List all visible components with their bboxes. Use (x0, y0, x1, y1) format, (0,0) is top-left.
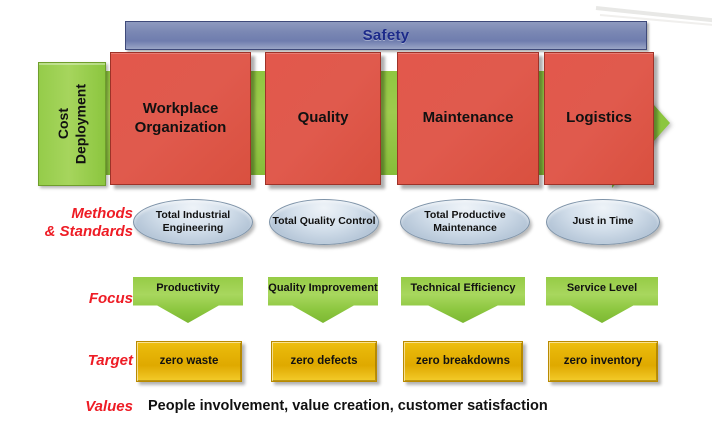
focus-arrow-productivity[interactable]: Productivity (133, 277, 243, 323)
row-label-methods-standards: Methods & Standards (3, 205, 133, 241)
method-ellipse-total-productive-maintenance[interactable]: Total Productive Maintenance (400, 199, 530, 245)
cost-deployment-pillar[interactable]: Cost Deployment (38, 62, 106, 186)
focus-arrow-quality-improvement[interactable]: Quality Improvement (268, 277, 378, 323)
pillar-quality[interactable]: Quality (265, 52, 381, 185)
target-box-zero-defects[interactable]: zero defects (271, 341, 377, 382)
row-label-target: Target (3, 352, 133, 370)
method-ellipse-total-industrial-engineering[interactable]: Total Industrial Engineering (133, 199, 253, 245)
diagram-canvas: Safety Cost Deployment Workplace Organiz… (0, 0, 712, 427)
focus-label: Quality Improvement (268, 277, 377, 295)
method-label: Just in Time (572, 215, 633, 228)
row-label-focus: Focus (3, 290, 133, 308)
focus-label: Productivity (156, 277, 220, 295)
safety-label: Safety (363, 27, 410, 44)
method-label: Total Quality Control (272, 215, 375, 228)
target-box-zero-inventory[interactable]: zero inventory (548, 341, 658, 382)
method-label: Total Productive Maintenance (401, 209, 529, 235)
pillar-maintenance[interactable]: Maintenance (397, 52, 539, 185)
target-label: zero inventory (564, 354, 643, 368)
focus-arrow-service-level[interactable]: Service Level (546, 277, 658, 323)
pillar-label: Logistics (566, 109, 632, 128)
pillar-label: Quality (298, 109, 349, 128)
pillar-label: Maintenance (423, 109, 514, 128)
focus-label: Technical Efficiency (411, 277, 516, 295)
method-ellipse-total-quality-control[interactable]: Total Quality Control (269, 199, 379, 245)
pillar-workplace-organization[interactable]: Workplace Organization (110, 52, 251, 185)
focus-arrow-technical-efficiency[interactable]: Technical Efficiency (401, 277, 525, 323)
target-box-zero-breakdowns[interactable]: zero breakdowns (403, 341, 523, 382)
safety-roof-bar[interactable]: Safety (125, 21, 647, 50)
method-label: Total Industrial Engineering (134, 209, 252, 235)
pillar-label: Workplace Organization (111, 100, 250, 138)
target-label: zero breakdowns (416, 354, 510, 368)
target-box-zero-waste[interactable]: zero waste (136, 341, 242, 382)
target-label: zero defects (290, 354, 357, 368)
values-statement: People involvement, value creation, cust… (148, 398, 548, 414)
cost-deployment-label: Cost Deployment (55, 84, 90, 164)
pillar-logistics[interactable]: Logistics (544, 52, 654, 185)
target-label: zero waste (160, 354, 219, 368)
focus-label: Service Level (567, 277, 637, 295)
row-label-values: Values (3, 398, 133, 416)
method-ellipse-just-in-time[interactable]: Just in Time (546, 199, 660, 245)
